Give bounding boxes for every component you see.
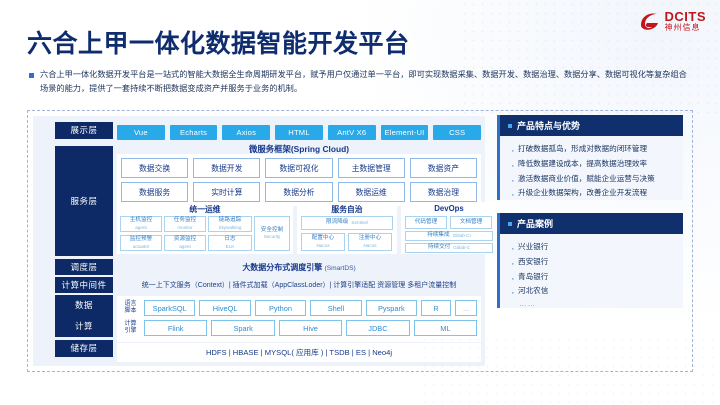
card-bullet-icon	[508, 124, 512, 128]
slide-canvas: DCITS 神州信息 六合上甲一体化数据智能开发平台 六合上甲一体化数据开发平台…	[0, 0, 720, 405]
chip-pyspark[interactable]: Pyspark	[366, 300, 417, 316]
card-product-cases: 产品案例 兴业银行 西安银行 青岛银行 河北农信 ……	[497, 213, 683, 308]
card-bullet-icon	[508, 222, 512, 226]
cell-config-center[interactable]: 配置中心 Nacos	[301, 233, 345, 251]
layer-label-scheduler: 调度层	[55, 259, 113, 275]
layer-label-compute: 数据 计算	[55, 295, 113, 337]
cell-sentinel-en: Sentinel	[351, 220, 368, 226]
scheduler-engine-title: 大数据分布式调度引擎	[242, 263, 322, 272]
scheduler-engine-label: 大数据分布式调度引擎 (SmartDS)	[117, 262, 481, 273]
group-devops: DevOps 代码管理 文档管理 持续集成 Gitlab-CI 持续交付 Git…	[401, 202, 497, 254]
cell-ci-en: Gitlab-CI	[453, 233, 471, 239]
tech-tag-css[interactable]: CSS	[433, 125, 481, 140]
module-data-service[interactable]: 数据服务	[121, 182, 188, 202]
card-product-cases-header: 产品案例	[500, 213, 683, 234]
cell-logging[interactable]: 日志 ELK	[208, 235, 252, 251]
cell-tracing-cn: 链路追踪	[219, 217, 241, 224]
compute-engine-label-l1: 计算	[124, 321, 136, 327]
chip-spark[interactable]: Spark	[211, 320, 274, 336]
compute-script-label-l1: 语言	[124, 301, 136, 307]
chip-more[interactable]: ...	[455, 300, 477, 316]
cell-monitor-alert-cn: 监控预警	[130, 236, 152, 243]
cell-host-monitor-cn: 主机监控	[130, 217, 152, 224]
scheduler-engine-code: (SmartDS)	[325, 265, 356, 272]
module-master-data-mgmt[interactable]: 主数据管理	[338, 158, 405, 178]
intro-text: 六合上甲一体化数据开发平台是一站式的智能大数据全生命周期研发平台，赋予用户仅通过…	[40, 68, 691, 97]
brand-logo: DCITS 神州信息	[639, 10, 707, 32]
compute-script-label: 语言 脚本	[121, 301, 140, 315]
chip-hiveql[interactable]: HiveQL	[199, 300, 250, 316]
cell-logging-cn: 日志	[224, 236, 235, 243]
service-module-row-2: 数据服务 实时计算 数据分析 数据运维 数据治理	[121, 182, 477, 202]
cell-resource-monitor[interactable]: 资源监控 agent	[164, 235, 206, 251]
chip-r[interactable]: R	[421, 300, 451, 316]
storage-technologies-label: HDFS | HBASE | MYSQL( 应用库 ) | TSDB | ES …	[117, 343, 481, 362]
layer-label-compute-line1: 数据	[75, 300, 93, 311]
layer-label-presentation: 展示层	[55, 122, 113, 139]
cell-ci[interactable]: 持续集成 Gitlab-CI	[405, 231, 493, 241]
layer-label-middleware: 计算中间件	[55, 277, 113, 293]
cell-doc-mgmt-cn: 文档管理	[460, 219, 482, 226]
cell-code-mgmt-cn: 代码管理	[415, 219, 437, 226]
module-data-governance[interactable]: 数据治理	[410, 182, 477, 202]
module-data-development[interactable]: 数据开发	[193, 158, 260, 178]
cell-host-monitor-en: agent	[135, 225, 147, 231]
card-product-advantages-title: 产品特点与优势	[517, 119, 580, 132]
group-unified-ops-title: 统一运维	[117, 202, 293, 215]
compute-engine-label: 计算 引擎	[121, 321, 140, 335]
chip-shell[interactable]: Shell	[310, 300, 361, 316]
cell-config-center-cn: 配置中心	[312, 235, 334, 242]
service-modules-panel: 数据交换 数据开发 数据可视化 主数据管理 数据资产 数据服务 实时计算 数据分…	[117, 154, 481, 206]
cell-tracing[interactable]: 链路追踪 Skywalking	[208, 216, 252, 232]
chip-flink[interactable]: Flink	[144, 320, 207, 336]
tech-tag-html[interactable]: HTML	[275, 125, 323, 140]
cell-cd-en: Gitlab-C	[453, 245, 470, 251]
architecture-diagram: 展示层 服务层 调度层 计算中间件 数据 计算 储存层 Vue Echarts …	[33, 116, 485, 366]
module-data-assets[interactable]: 数据资产	[410, 158, 477, 178]
case-item-1: 兴业银行	[510, 240, 673, 255]
brand-name-en: DCITS	[665, 10, 707, 23]
cell-monitor-alert-en: actuator	[133, 244, 150, 250]
cell-task-monitor-en: monitor	[177, 225, 192, 231]
case-item-4: 河北农信	[510, 284, 673, 299]
module-data-visualization[interactable]: 数据可视化	[265, 158, 332, 178]
dcits-swirl-icon	[639, 11, 661, 31]
group-devops-title: DevOps	[401, 202, 497, 213]
middleware-capabilities-label: 统一上下文服务（Context）| 插件式加载（AppClassLoder）| …	[117, 280, 481, 290]
cell-resource-monitor-cn: 资源监控	[174, 236, 196, 243]
card-product-advantages-body: 打破数据孤岛，形成对数据的闭环管理 降低数据建设成本，提高数据治理效率 激活数据…	[500, 136, 683, 209]
layer-label-storage: 储存层	[55, 340, 113, 357]
cell-registry-center-en: Nacos	[363, 243, 376, 249]
cell-logging-en: ELK	[226, 244, 235, 250]
layer-content-column: Vue Echarts Axios HTML AntV X6 Element-U…	[117, 116, 481, 366]
compute-engine-label-l2: 引擎	[124, 328, 136, 334]
chip-sparksql[interactable]: SparkSQL	[144, 300, 195, 316]
advantage-item-2: 降低数据建设成本，提高数据治理效率	[510, 157, 673, 172]
module-data-exchange[interactable]: 数据交换	[121, 158, 188, 178]
cell-ci-cn: 持续集成	[427, 232, 449, 239]
advantage-item-3: 激活数据商业价值，赋能企业运营与决策	[510, 172, 673, 187]
tech-tag-axios[interactable]: Axios	[222, 125, 270, 140]
advantage-item-4: 升级企业数据架构，改善企业开发流程	[510, 186, 673, 201]
card-product-advantages: 产品特点与优势 打破数据孤岛，形成对数据的闭环管理 降低数据建设成本，提高数据治…	[497, 115, 683, 200]
bullet-square-icon	[29, 73, 34, 78]
page-title: 六合上甲一体化数据智能开发平台	[27, 24, 410, 60]
cell-sentinel[interactable]: 限流降级 Sentinel	[301, 216, 393, 230]
cell-security-control[interactable]: 安全控制 Security	[254, 216, 290, 251]
cell-task-monitor[interactable]: 任务监控 monitor	[164, 216, 206, 232]
intro-paragraph: 六合上甲一体化数据开发平台是一站式的智能大数据全生命周期研发平台，赋予用户仅通过…	[29, 68, 691, 97]
card-product-cases-title: 产品案例	[517, 217, 553, 230]
card-product-cases-body: 兴业银行 西安银行 青岛银行 河北农信 ……	[500, 234, 683, 316]
cell-task-monitor-cn: 任务监控	[174, 217, 196, 224]
module-data-analysis[interactable]: 数据分析	[265, 182, 332, 202]
cell-cd-cn: 持续交付	[428, 244, 450, 251]
compute-panel: 语言 脚本 SparkSQL HiveQL Python Shell Pyspa…	[117, 296, 481, 342]
presentation-tag-row: Vue Echarts Axios HTML AntV X6 Element-U…	[117, 125, 481, 140]
cell-config-center-en: Nacos	[316, 243, 329, 249]
chip-hive[interactable]: Hive	[279, 320, 342, 336]
layer-label-compute-line2: 计算	[75, 321, 93, 332]
chip-ml[interactable]: ML	[414, 320, 477, 336]
chip-python[interactable]: Python	[255, 300, 306, 316]
cell-host-monitor[interactable]: 主机监控 agent	[120, 216, 162, 232]
tech-tag-element-ui[interactable]: Element-UI	[381, 125, 429, 140]
cell-registry-center[interactable]: 注册中心 Nacos	[348, 233, 392, 251]
cell-cd[interactable]: 持续交付 Gitlab-C	[405, 243, 493, 253]
case-item-3: 青岛银行	[510, 270, 673, 285]
service-module-row-1: 数据交换 数据开发 数据可视化 主数据管理 数据资产	[121, 158, 477, 178]
tech-tag-echarts[interactable]: Echarts	[170, 125, 218, 140]
group-service-autonomy: 服务自治 限流降级 Sentinel 配置中心 Nacos 注册中心 Nacos	[297, 202, 397, 254]
cell-security-control-en: Security	[264, 234, 281, 240]
layer-label-column: 展示层 服务层 调度层 计算中间件 数据 计算 储存层	[33, 116, 95, 366]
tech-tag-vue[interactable]: Vue	[117, 125, 165, 140]
module-data-ops[interactable]: 数据运维	[338, 182, 405, 202]
cell-resource-monitor-en: agent	[179, 244, 191, 250]
group-unified-ops: 统一运维 主机监控 agent 任务监控 monitor 链路追踪 Skywal…	[117, 202, 293, 254]
group-service-autonomy-title: 服务自治	[297, 202, 397, 215]
chip-jdbc[interactable]: JDBC	[346, 320, 409, 336]
cell-tracing-en: Skywalking	[219, 225, 242, 231]
cell-doc-mgmt[interactable]: 文档管理	[450, 216, 492, 229]
case-item-2: 西安银行	[510, 255, 673, 270]
compute-script-label-l2: 脚本	[124, 308, 136, 314]
compute-script-row: 语言 脚本 SparkSQL HiveQL Python Shell Pyspa…	[121, 300, 477, 316]
cell-sentinel-cn: 限流降级	[326, 219, 348, 226]
layer-label-service: 服务层	[55, 146, 113, 256]
brand-name-cn: 神州信息	[665, 24, 707, 32]
tech-tag-antv-x6[interactable]: AntV X6	[328, 125, 376, 140]
compute-engine-row: 计算 引擎 Flink Spark Hive JDBC ML	[121, 320, 477, 336]
cell-registry-center-cn: 注册中心	[359, 235, 381, 242]
cell-code-mgmt[interactable]: 代码管理	[405, 216, 447, 229]
case-item-more: ……	[510, 299, 673, 308]
advantage-item-1: 打破数据孤岛，形成对数据的闭环管理	[510, 142, 673, 157]
card-product-advantages-header: 产品特点与优势	[500, 115, 683, 136]
cell-monitor-alert[interactable]: 监控预警 actuator	[120, 235, 162, 251]
module-realtime-compute[interactable]: 实时计算	[193, 182, 260, 202]
cell-security-control-cn: 安全控制	[261, 227, 283, 234]
